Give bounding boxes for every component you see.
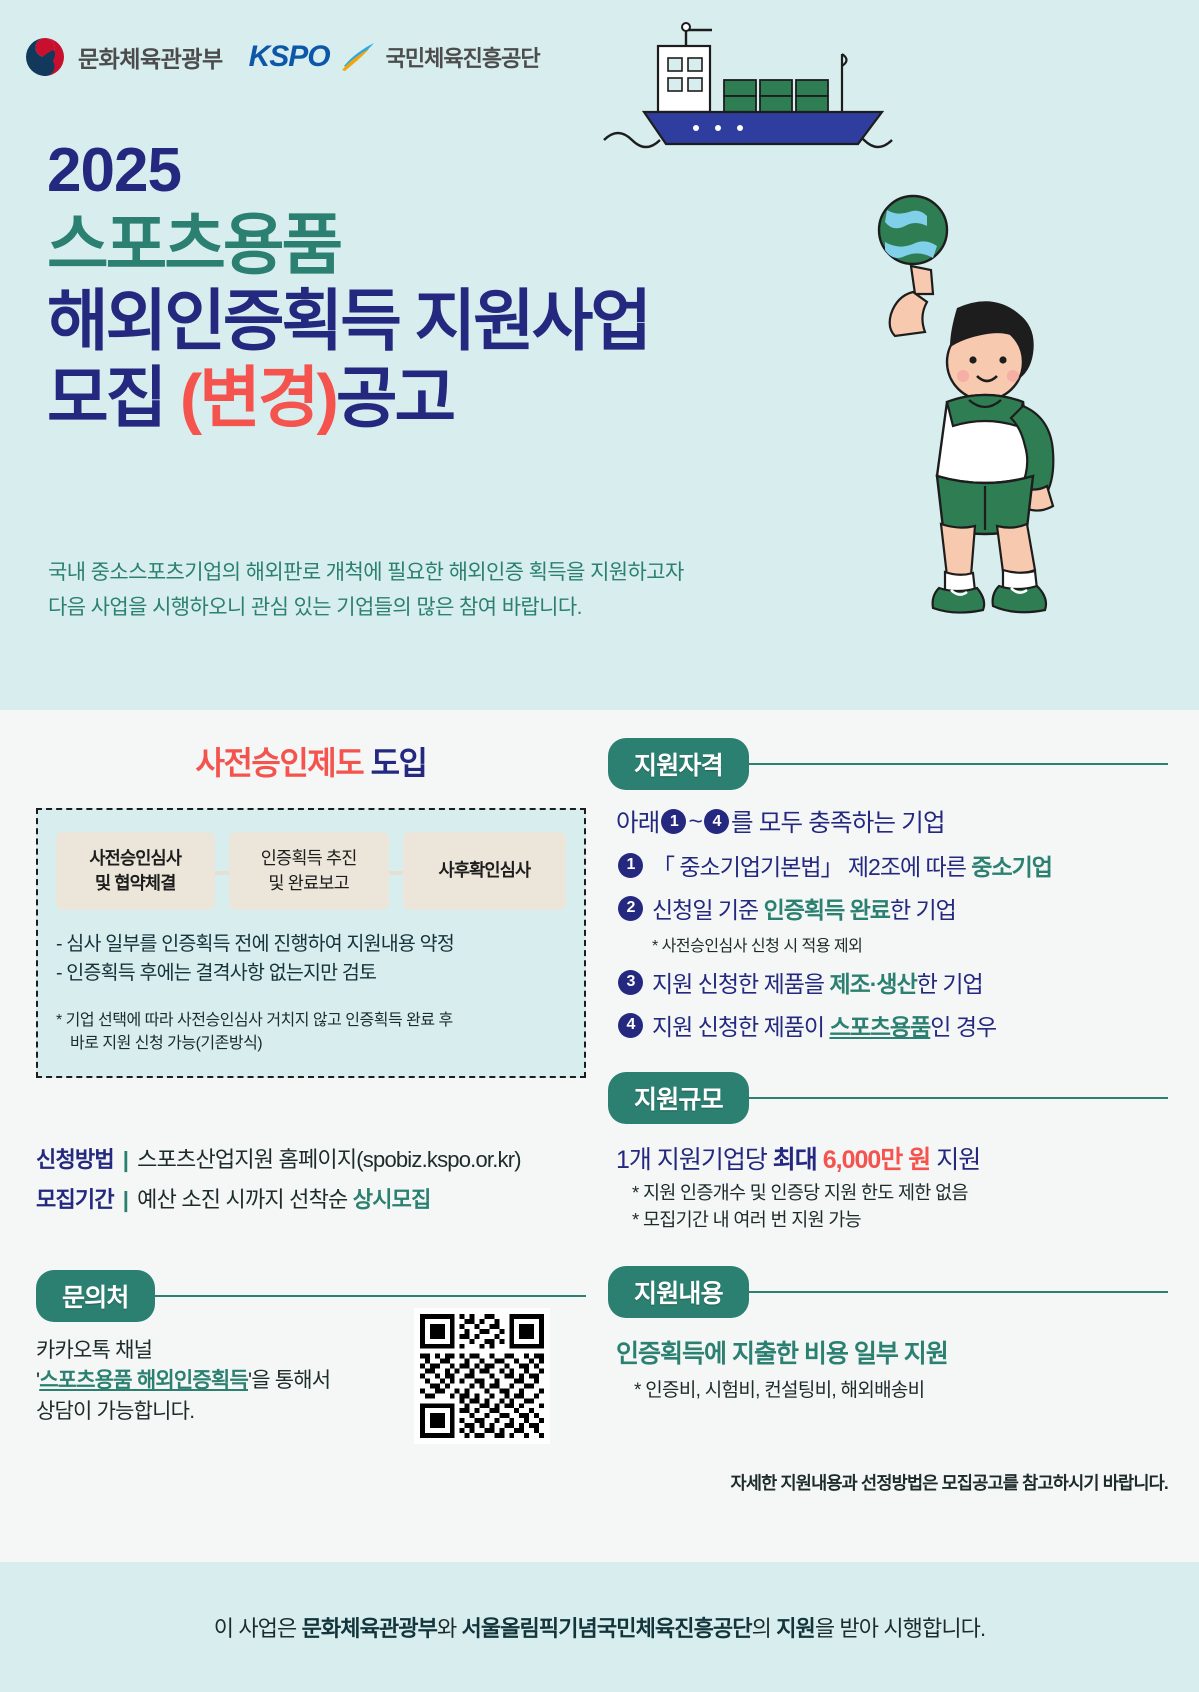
eligibility-body: 아래 1 ~ 4 를 모두 충족하는 기업 1 「 중소기업기본법」 제2조에 … bbox=[608, 804, 1168, 1042]
preapproval-note-line-1: * 기업 선택에 따라 사전승인심사 거치지 않고 인증획득 완료 후 bbox=[56, 1012, 453, 1029]
title-line-2: 해외인증획득 지원사업 bbox=[47, 284, 649, 360]
left-column: 사전승인제도 도입 사전승인심사 및 협약체결 인증획득 추진 및 완료보고 사… bbox=[36, 738, 586, 1427]
eligibility-lead-num-1: 1 bbox=[661, 809, 686, 834]
preapproval-heading-navy: 도입 bbox=[371, 745, 427, 781]
scale-body: 1개 지원기업당 최대 6,000만 원 지원 * 지원 인증개수 및 인증당 … bbox=[608, 1140, 1168, 1234]
taegeuk-icon bbox=[22, 34, 68, 80]
footer-e: 의 bbox=[752, 1616, 777, 1641]
hero-section: 문화체육관광부 KSPO 국민체육진흥공단 bbox=[0, 0, 1199, 710]
content-body: 인증획득에 지출한 비용 일부 지원 * 인증비, 시험비, 컨설팅비, 해외배… bbox=[608, 1334, 1168, 1402]
apply-method-label: 신청방법 bbox=[36, 1142, 114, 1174]
contact-pill-line bbox=[155, 1295, 586, 1297]
eligibility-pill-line bbox=[749, 763, 1168, 765]
eligibility-item-2-text: 신청일 기준 인증획득 완료한 기업 bbox=[652, 891, 956, 925]
scale-note-1: * 지원 인증개수 및 인증당 지원 한도 제한 없음 bbox=[632, 1180, 1168, 1207]
title-line-3-a: 모집 bbox=[47, 361, 180, 436]
contact-line-3: 상담이 가능합니다. bbox=[36, 1397, 366, 1427]
subtitle-line-2: 다음 사업을 시행하오니 관심 있는 기업들의 많은 참여 바랍니다. bbox=[48, 591, 684, 626]
eligibility-item-4-number: 4 bbox=[618, 1013, 643, 1038]
eligibility-item-3-pre: 지원 신청한 제품을 bbox=[652, 971, 829, 997]
eligibility-item-3-text: 지원 신청한 제품을 제조·생산한 기업 bbox=[652, 965, 983, 999]
footer-c: 와 bbox=[437, 1616, 462, 1641]
eligibility-item-2-number: 2 bbox=[618, 896, 643, 921]
scale-section: 지원규모 1개 지원기업당 최대 6,000만 원 지원 * 지원 인증개수 및… bbox=[608, 1072, 1168, 1234]
eligibility-lead-b: 를 모두 충족하는 기업 bbox=[731, 804, 945, 839]
eligibility-pill-row: 지원자격 bbox=[608, 738, 1168, 790]
apply-period-highlight: 상시모집 bbox=[353, 1187, 431, 1212]
content-note: * 인증비, 시험비, 컨설팅비, 해외배송비 bbox=[634, 1375, 1168, 1402]
application-info: 신청방법 | 스포츠산업지원 홈페이지(spobiz.kspo.or.kr) 모… bbox=[36, 1142, 586, 1214]
title-line-1: 스포츠용품 bbox=[47, 208, 649, 284]
apply-period-label: 모집기간 bbox=[36, 1182, 114, 1214]
poster-title: 2025 스포츠용품 해외인증획득 지원사업 모집 (변경)공고 bbox=[47, 140, 649, 437]
logo-bar: 문화체육관광부 KSPO 국민체육진흥공단 bbox=[22, 34, 540, 80]
kspo-wordmark: KSPO bbox=[249, 40, 330, 74]
apply-period-text: 예산 소진 시까지 선착순 bbox=[137, 1187, 353, 1212]
eligibility-lead-num-2: 4 bbox=[704, 809, 729, 834]
eligibility-item-4: 4 지원 신청한 제품이 스포츠용품인 경우 bbox=[616, 1008, 1168, 1042]
poster: 문화체육관광부 KSPO 국민체육진흥공단 bbox=[0, 0, 1199, 1692]
preapproval-bullet-2: - 인증획득 후에는 결격사항 없는지만 검토 bbox=[56, 959, 566, 989]
eligibility-pill: 지원자격 bbox=[608, 738, 749, 790]
content-pill-line bbox=[749, 1291, 1168, 1293]
content-pill: 지원내용 bbox=[608, 1266, 749, 1318]
title-line-3-c: 공고 bbox=[336, 361, 453, 436]
preapproval-bullets: - 심사 일부를 인증획득 전에 진행하여 지원내용 약정 - 인증획득 후에는… bbox=[56, 930, 566, 989]
flow-step-2-line-2: 및 완료보고 bbox=[239, 871, 379, 896]
flow-step-3-line-1: 사후확인심사 bbox=[413, 858, 556, 883]
preapproval-box: 사전승인심사 및 협약체결 인증획득 추진 및 완료보고 사후확인심사 - 심사… bbox=[36, 808, 586, 1078]
flow-step-1-line-2: 및 협약체결 bbox=[66, 871, 205, 896]
eligibility-item-1: 1 「 중소기업기본법」 제2조에 따른 중소기업 bbox=[616, 848, 1168, 882]
eligibility-item-2-highlight: 인증획득 완료 bbox=[764, 897, 890, 923]
logo-label-mcst: 문화체육관광부 bbox=[78, 40, 223, 74]
body-section: 사전승인제도 도입 사전승인심사 및 협약체결 인증획득 추진 및 완료보고 사… bbox=[0, 710, 1199, 1562]
preapproval-heading: 사전승인제도 도입 bbox=[36, 738, 586, 784]
eligibility-item-1-number: 1 bbox=[618, 853, 643, 878]
flow-step-2: 인증획득 추진 및 완료보고 bbox=[229, 832, 389, 910]
contact-quote-close: '을 통해서 bbox=[248, 1369, 330, 1392]
footer-text: 이 사업은 문화체육관광부와 서울올림픽기념국민체육진흥공단의 지원을 받아 시… bbox=[214, 1611, 985, 1643]
footer-section: 이 사업은 문화체육관광부와 서울올림픽기념국민체육진흥공단의 지원을 받아 시… bbox=[0, 1562, 1199, 1692]
content-pill-row: 지원내용 bbox=[608, 1266, 1168, 1318]
scale-main-text: 1개 지원기업당 최대 6,000만 원 지원 bbox=[616, 1140, 1168, 1176]
apply-period-separator: | bbox=[123, 1187, 128, 1213]
eligibility-item-1-text: 「 중소기업기본법」 제2조에 따른 중소기업 bbox=[652, 848, 1052, 882]
scale-pill-row: 지원규모 bbox=[608, 1072, 1168, 1124]
footer-ministry: 문화체육관광부 bbox=[302, 1616, 437, 1641]
footer-a: 이 사업은 bbox=[214, 1616, 302, 1641]
eligibility-item-1-highlight: 중소기업 bbox=[971, 854, 1052, 880]
footer-g: 을 받아 시행합니다. bbox=[815, 1616, 985, 1641]
process-flow: 사전승인심사 및 협약체결 인증획득 추진 및 완료보고 사후확인심사 bbox=[56, 832, 566, 910]
contact-line-1: 카카오톡 채널 bbox=[36, 1336, 366, 1366]
eligibility-item-2: 2 신청일 기준 인증획득 완료한 기업 bbox=[616, 891, 1168, 925]
eligibility-item-3: 3 지원 신청한 제품을 제조·생산한 기업 bbox=[616, 965, 1168, 999]
preapproval-note-line-2: 바로 지원 신청 가능(기존방식) bbox=[56, 1032, 566, 1055]
preapproval-bullet-1: - 심사 일부를 인증획득 전에 진행하여 지원내용 약정 bbox=[56, 930, 566, 960]
kakao-channel-name[interactable]: 스포츠용품 해외인증획득 bbox=[39, 1369, 248, 1392]
content-section: 지원내용 인증획득에 지출한 비용 일부 지원 * 인증비, 시험비, 컨설팅비… bbox=[608, 1266, 1168, 1402]
contact-text: 카카오톡 채널 '스포츠용품 해외인증획득'을 통해서 상담이 가능합니다. bbox=[36, 1336, 366, 1427]
eligibility-item-4-highlight: 스포츠용품 bbox=[829, 1014, 930, 1040]
preapproval-heading-red: 사전승인제도 bbox=[196, 745, 364, 781]
apply-method-row: 신청방법 | 스포츠산업지원 홈페이지(spobiz.kspo.or.kr) bbox=[36, 1142, 586, 1174]
scale-note-2: * 모집기간 내 여러 번 지원 가능 bbox=[632, 1207, 1168, 1234]
flow-step-2-line-1: 인증획득 추진 bbox=[239, 846, 379, 871]
final-note: 자세한 지원내용과 선정방법은 모집공고를 참고하시기 바랍니다. bbox=[608, 1470, 1168, 1495]
eligibility-item-3-number: 3 bbox=[618, 970, 643, 995]
contact-line-2: '스포츠용품 해외인증획득'을 통해서 bbox=[36, 1366, 366, 1396]
logo-kspo: KSPO 국민체육진흥공단 bbox=[249, 40, 540, 74]
flow-step-3: 사후확인심사 bbox=[403, 832, 566, 910]
footer-kspo: 서울올림픽기념국민체육진흥공단 bbox=[462, 1616, 752, 1641]
kspo-swoosh-icon bbox=[340, 40, 376, 74]
scale-pill: 지원규모 bbox=[608, 1072, 749, 1124]
title-year: 2025 bbox=[47, 140, 649, 202]
contact-pill: 문의처 bbox=[36, 1270, 155, 1322]
eligibility-item-2-post: 한 기업 bbox=[890, 897, 956, 923]
eligibility-item-4-post: 인 경우 bbox=[930, 1014, 996, 1040]
apply-period-value: 예산 소진 시까지 선착순 상시모집 bbox=[137, 1182, 430, 1214]
eligibility-item-4-pre: 지원 신청한 제품이 bbox=[652, 1014, 829, 1040]
eligibility-lead: 아래 1 ~ 4 를 모두 충족하는 기업 bbox=[616, 804, 1168, 839]
preapproval-note: * 기업 선택에 따라 사전승인심사 거치지 않고 인증획득 완료 후 바로 지… bbox=[56, 1009, 566, 1056]
eligibility-section: 지원자격 아래 1 ~ 4 를 모두 충족하는 기업 1 「 중소기업기본법」 … bbox=[608, 738, 1168, 1042]
eligibility-item-2-pre: 신청일 기준 bbox=[652, 897, 764, 923]
footer-support: 지원 bbox=[776, 1616, 815, 1641]
logo-mcst: 문화체육관광부 bbox=[22, 34, 223, 80]
apply-method-value[interactable]: 스포츠산업지원 홈페이지(spobiz.kspo.or.kr) bbox=[137, 1142, 521, 1174]
logo-label-kspo: 국민체육진흥공단 bbox=[386, 41, 540, 73]
scale-pill-line bbox=[749, 1097, 1168, 1099]
eligibility-item-4-text: 지원 신청한 제품이 스포츠용품인 경우 bbox=[652, 1008, 996, 1042]
content-main-text: 인증획득에 지출한 비용 일부 지원 bbox=[616, 1334, 1168, 1370]
contact-section: 문의처 카카오톡 채널 '스포츠용품 해외인증획득'을 통해서 상담이 가능합니… bbox=[36, 1270, 586, 1427]
scale-main-b: 최대 bbox=[773, 1146, 823, 1174]
qr-code-image[interactable] bbox=[414, 1308, 550, 1444]
athlete-illustration bbox=[865, 190, 1100, 630]
flow-step-1-line-1: 사전승인심사 bbox=[66, 846, 205, 871]
eligibility-item-1-pre: 「 중소기업기본법」 제2조에 따른 bbox=[652, 854, 971, 880]
eligibility-item-2-note: * 사전승인심사 신청 시 적용 제외 bbox=[652, 932, 1168, 956]
flow-step-1: 사전승인심사 및 협약체결 bbox=[56, 832, 215, 910]
right-column: 지원자격 아래 1 ~ 4 를 모두 충족하는 기업 1 「 중소기업기본법」 … bbox=[608, 738, 1168, 1402]
apply-period-row: 모집기간 | 예산 소진 시까지 선착순 상시모집 bbox=[36, 1182, 586, 1214]
scale-amount: 6,000만 원 bbox=[823, 1146, 931, 1174]
scale-main-a: 1개 지원기업당 bbox=[616, 1146, 773, 1174]
hero-subtitle: 국내 중소스포츠기업의 해외판로 개척에 필요한 해외인증 획득을 지원하고자 … bbox=[48, 556, 684, 626]
title-line-3-highlight: (변경) bbox=[180, 361, 336, 436]
apply-method-separator: | bbox=[123, 1147, 128, 1173]
subtitle-line-1: 국내 중소스포츠기업의 해외판로 개척에 필요한 해외인증 획득을 지원하고자 bbox=[48, 556, 684, 591]
eligibility-lead-a: 아래 bbox=[616, 804, 659, 839]
eligibility-lead-tilde: ~ bbox=[688, 808, 702, 836]
eligibility-item-3-highlight: 제조·생산 bbox=[829, 971, 916, 997]
eligibility-item-3-post: 한 기업 bbox=[917, 971, 983, 997]
title-line-3: 모집 (변경)공고 bbox=[47, 361, 649, 437]
scale-main-c: 지원 bbox=[930, 1146, 980, 1174]
